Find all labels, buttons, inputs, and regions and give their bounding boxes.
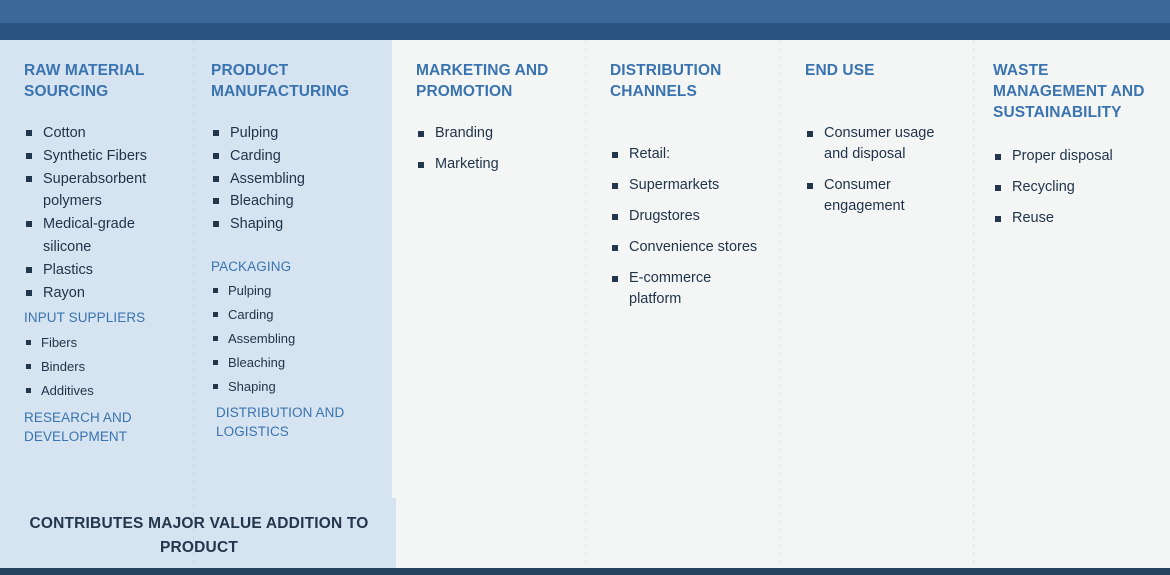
list-item: Supermarkets bbox=[610, 175, 762, 196]
list-item: Assembling bbox=[211, 168, 383, 191]
stage-column-distribution-channels[interactable]: DISTRIBUTION CHANNELS Retail: Supermarke… bbox=[610, 40, 762, 320]
list-item: E-commerce platform bbox=[610, 268, 762, 310]
list-item: Binders bbox=[24, 355, 184, 379]
subsection-heading-distribution-and-logistics: DISTRIBUTION AND LOGISTICS bbox=[211, 403, 383, 441]
stage-title: DISTRIBUTION CHANNELS bbox=[610, 60, 762, 102]
list-item: Retail: bbox=[610, 144, 762, 165]
column-divider-4 bbox=[779, 40, 780, 568]
column-divider-5 bbox=[973, 40, 974, 568]
stage-title: PRODUCT MANUFACTURING bbox=[211, 60, 383, 102]
list-item: Plastics bbox=[24, 259, 184, 282]
list-item: Drugstores bbox=[610, 206, 762, 227]
subsection-item-list-input-suppliers: Fibers Binders Additives bbox=[24, 331, 184, 403]
list-item: Carding bbox=[211, 145, 383, 168]
subsection-item-list-packaging: Pulping Carding Assembling Bleaching Sha… bbox=[211, 279, 383, 399]
stage-title: END USE bbox=[805, 60, 961, 81]
list-item: Proper disposal bbox=[993, 146, 1153, 167]
stage-item-list: Cotton Synthetic Fibers Superabsorbent p… bbox=[24, 122, 184, 304]
subsection-heading-packaging: PACKAGING bbox=[211, 257, 383, 276]
list-item: Consumer usage and disposal bbox=[805, 123, 961, 165]
stage-columns: RAW MATERIAL SOURCING Cotton Synthetic F… bbox=[0, 40, 1170, 568]
list-item: Additives bbox=[24, 379, 184, 403]
stage-title: WASTE MANAGEMENT AND SUSTAINABILITY bbox=[993, 60, 1153, 123]
stages-header-bar bbox=[0, 0, 1170, 40]
list-item: Pulping bbox=[211, 122, 383, 145]
stage-item-list: Consumer usage and disposal Consumer eng… bbox=[805, 123, 961, 217]
value-chain-slide: STAGES RAW MATERIAL SOURCING Cotton Synt… bbox=[0, 0, 1170, 575]
list-item: Convenience stores bbox=[610, 237, 762, 258]
stage-column-raw-material-sourcing[interactable]: RAW MATERIAL SOURCING Cotton Synthetic F… bbox=[24, 40, 184, 446]
stage-column-marketing-and-promotion[interactable]: MARKETING AND PROMOTION Branding Marketi… bbox=[416, 40, 566, 185]
list-item: Marketing bbox=[416, 154, 566, 175]
list-item: Recycling bbox=[993, 177, 1153, 198]
list-item: Consumer engagement bbox=[805, 175, 961, 217]
list-item: Bleaching bbox=[211, 190, 383, 213]
list-item: Superabsorbent polymers bbox=[24, 168, 184, 214]
stage-title: RAW MATERIAL SOURCING bbox=[24, 60, 184, 102]
stage-item-list: Retail: Supermarkets Drugstores Convenie… bbox=[610, 144, 762, 310]
list-item: Fibers bbox=[24, 331, 184, 355]
column-divider-3 bbox=[585, 40, 586, 568]
stages-header-bar-lower-band bbox=[0, 23, 1170, 40]
list-item: Branding bbox=[416, 123, 566, 144]
list-item: Pulping bbox=[211, 279, 383, 303]
list-item: Rayon bbox=[24, 282, 184, 305]
subsection-heading-research-and-development: RESEARCH AND DEVELOPMENT bbox=[24, 408, 184, 446]
list-item: Assembling bbox=[211, 327, 383, 351]
list-item: Bleaching bbox=[211, 351, 383, 375]
stage-column-waste-management-and-sustainability[interactable]: WASTE MANAGEMENT AND SUSTAINABILITY Prop… bbox=[993, 40, 1153, 239]
stage-column-end-use[interactable]: END USE Consumer usage and disposal Cons… bbox=[805, 40, 961, 227]
stage-item-list: Pulping Carding Assembling Bleaching Sha… bbox=[211, 122, 383, 236]
list-item: Synthetic Fibers bbox=[24, 145, 184, 168]
list-item: Shaping bbox=[211, 375, 383, 399]
stage-column-product-manufacturing[interactable]: PRODUCT MANUFACTURING Pulping Carding As… bbox=[211, 40, 383, 441]
list-item: Carding bbox=[211, 303, 383, 327]
list-item: Reuse bbox=[993, 208, 1153, 229]
subsection-heading-input-suppliers: INPUT SUPPLIERS bbox=[24, 308, 184, 327]
bottom-rule bbox=[0, 568, 1170, 575]
stage-item-list: Proper disposal Recycling Reuse bbox=[993, 146, 1153, 229]
value-addition-banner: CONTRIBUTES MAJOR VALUE ADDITION TO PROD… bbox=[16, 512, 382, 560]
column-divider-1 bbox=[193, 40, 194, 568]
list-item: Cotton bbox=[24, 122, 184, 145]
stage-title: MARKETING AND PROMOTION bbox=[416, 60, 566, 102]
list-item: Medical-grade silicone bbox=[24, 213, 184, 259]
list-item: Shaping bbox=[211, 213, 383, 236]
stage-item-list: Branding Marketing bbox=[416, 123, 566, 175]
